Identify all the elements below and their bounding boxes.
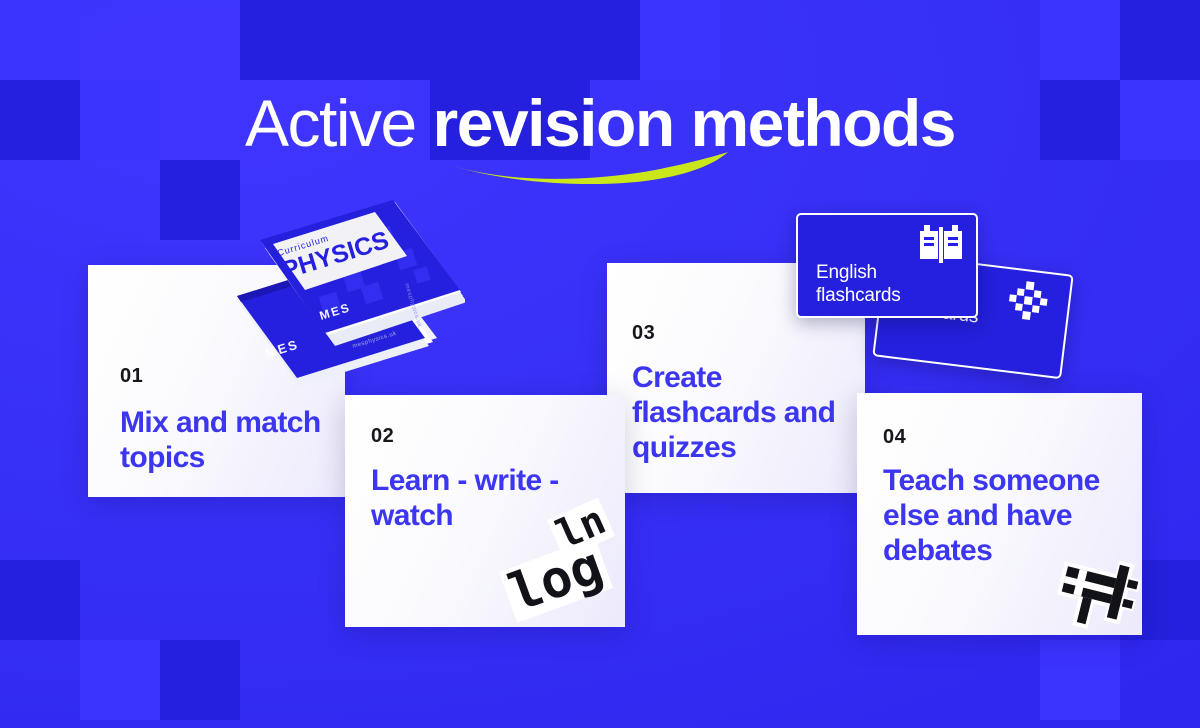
page-title-block: Active revision methods bbox=[0, 86, 1200, 160]
card-03-number: 03 bbox=[632, 322, 655, 345]
page-title-light: Active bbox=[245, 86, 433, 160]
card-01-number: 01 bbox=[120, 365, 143, 388]
background-tile bbox=[1040, 640, 1120, 720]
background-tile bbox=[400, 0, 480, 80]
background-tile bbox=[480, 0, 560, 80]
background-tile bbox=[0, 560, 80, 640]
card-03-headline: Create flashcards and quizzes bbox=[632, 360, 865, 465]
background-tile bbox=[0, 0, 80, 80]
background-tile bbox=[1040, 0, 1120, 80]
background-tile bbox=[80, 640, 160, 720]
background-tile bbox=[560, 0, 640, 80]
infographic-canvas: Active revision methods 01 Mix and match… bbox=[0, 0, 1200, 728]
card-04[interactable]: 04 Teach someone else and have debates bbox=[857, 393, 1142, 635]
card-02-number: 02 bbox=[371, 425, 394, 448]
background-tile bbox=[640, 0, 720, 80]
background-tile bbox=[160, 160, 240, 240]
card-02-headline: Learn - write - watch bbox=[371, 463, 621, 533]
card-04-number: 04 bbox=[883, 426, 906, 449]
page-title: Active revision methods bbox=[245, 86, 955, 160]
background-tile bbox=[1120, 0, 1200, 80]
card-02[interactable]: 02 Learn - write - watch bbox=[345, 395, 625, 627]
page-title-bold: revision methods bbox=[433, 86, 955, 160]
background-tile bbox=[320, 0, 400, 80]
card-01-headline: Mix and match topics bbox=[120, 405, 345, 475]
card-04-headline: Teach someone else and have debates bbox=[883, 463, 1133, 568]
background-tile bbox=[160, 640, 240, 720]
card-03[interactable]: 03 Create flashcards and quizzes bbox=[607, 263, 865, 493]
card-01[interactable]: 01 Mix and match topics bbox=[88, 265, 345, 497]
background-tile bbox=[240, 0, 320, 80]
